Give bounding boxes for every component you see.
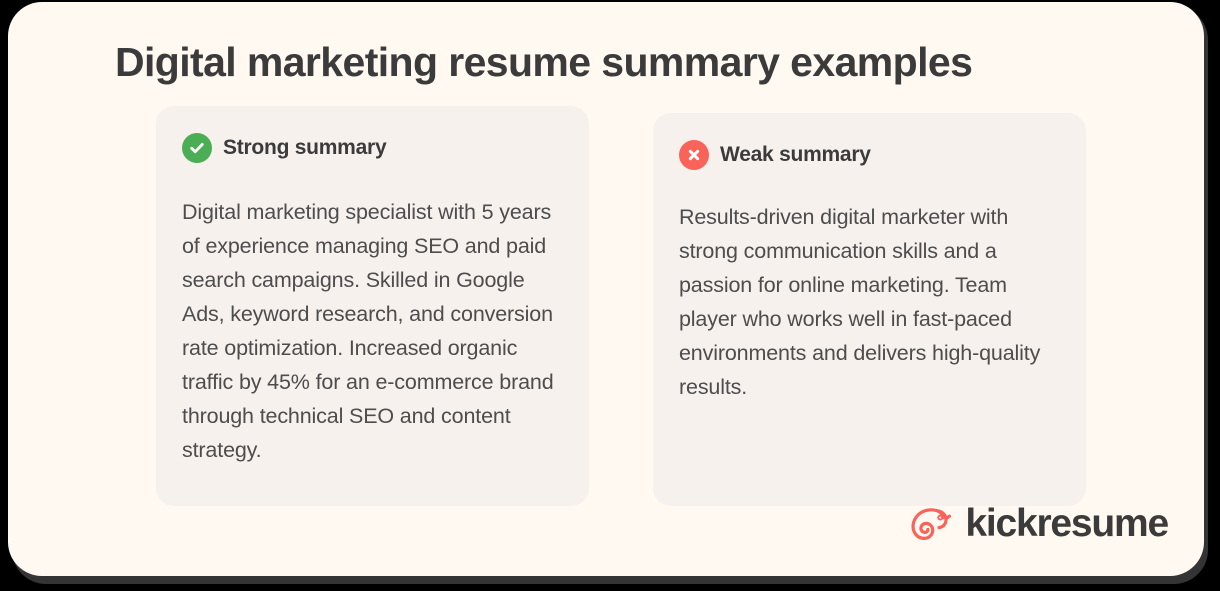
panel-weak-text: Results-driven digital marketer with str…	[679, 200, 1060, 404]
summary-panels: Strong summary Digital marketing special…	[156, 106, 1086, 506]
content-card: Digital marketing resume summary example…	[8, 2, 1204, 576]
panel-weak-title: Weak summary	[720, 143, 871, 167]
panel-strong-text: Digital marketing specialist with 5 year…	[182, 195, 563, 467]
page-title: Digital marketing resume summary example…	[115, 38, 1125, 86]
panel-strong-title: Strong summary	[223, 136, 386, 160]
brand-name: kickresume	[965, 502, 1168, 546]
check-circle-icon	[182, 133, 212, 163]
panel-strong-summary: Strong summary Digital marketing special…	[156, 106, 589, 506]
screenshot-root: Digital marketing resume summary example…	[0, 0, 1220, 591]
panel-weak-summary: Weak summary Results-driven digital mark…	[653, 113, 1086, 506]
panel-strong-header: Strong summary	[182, 130, 563, 166]
panel-weak-header: Weak summary	[679, 137, 1060, 173]
brand-logo: kickresume	[905, 502, 1168, 546]
kickresume-chameleon-icon	[905, 503, 951, 545]
x-circle-icon	[679, 140, 709, 170]
